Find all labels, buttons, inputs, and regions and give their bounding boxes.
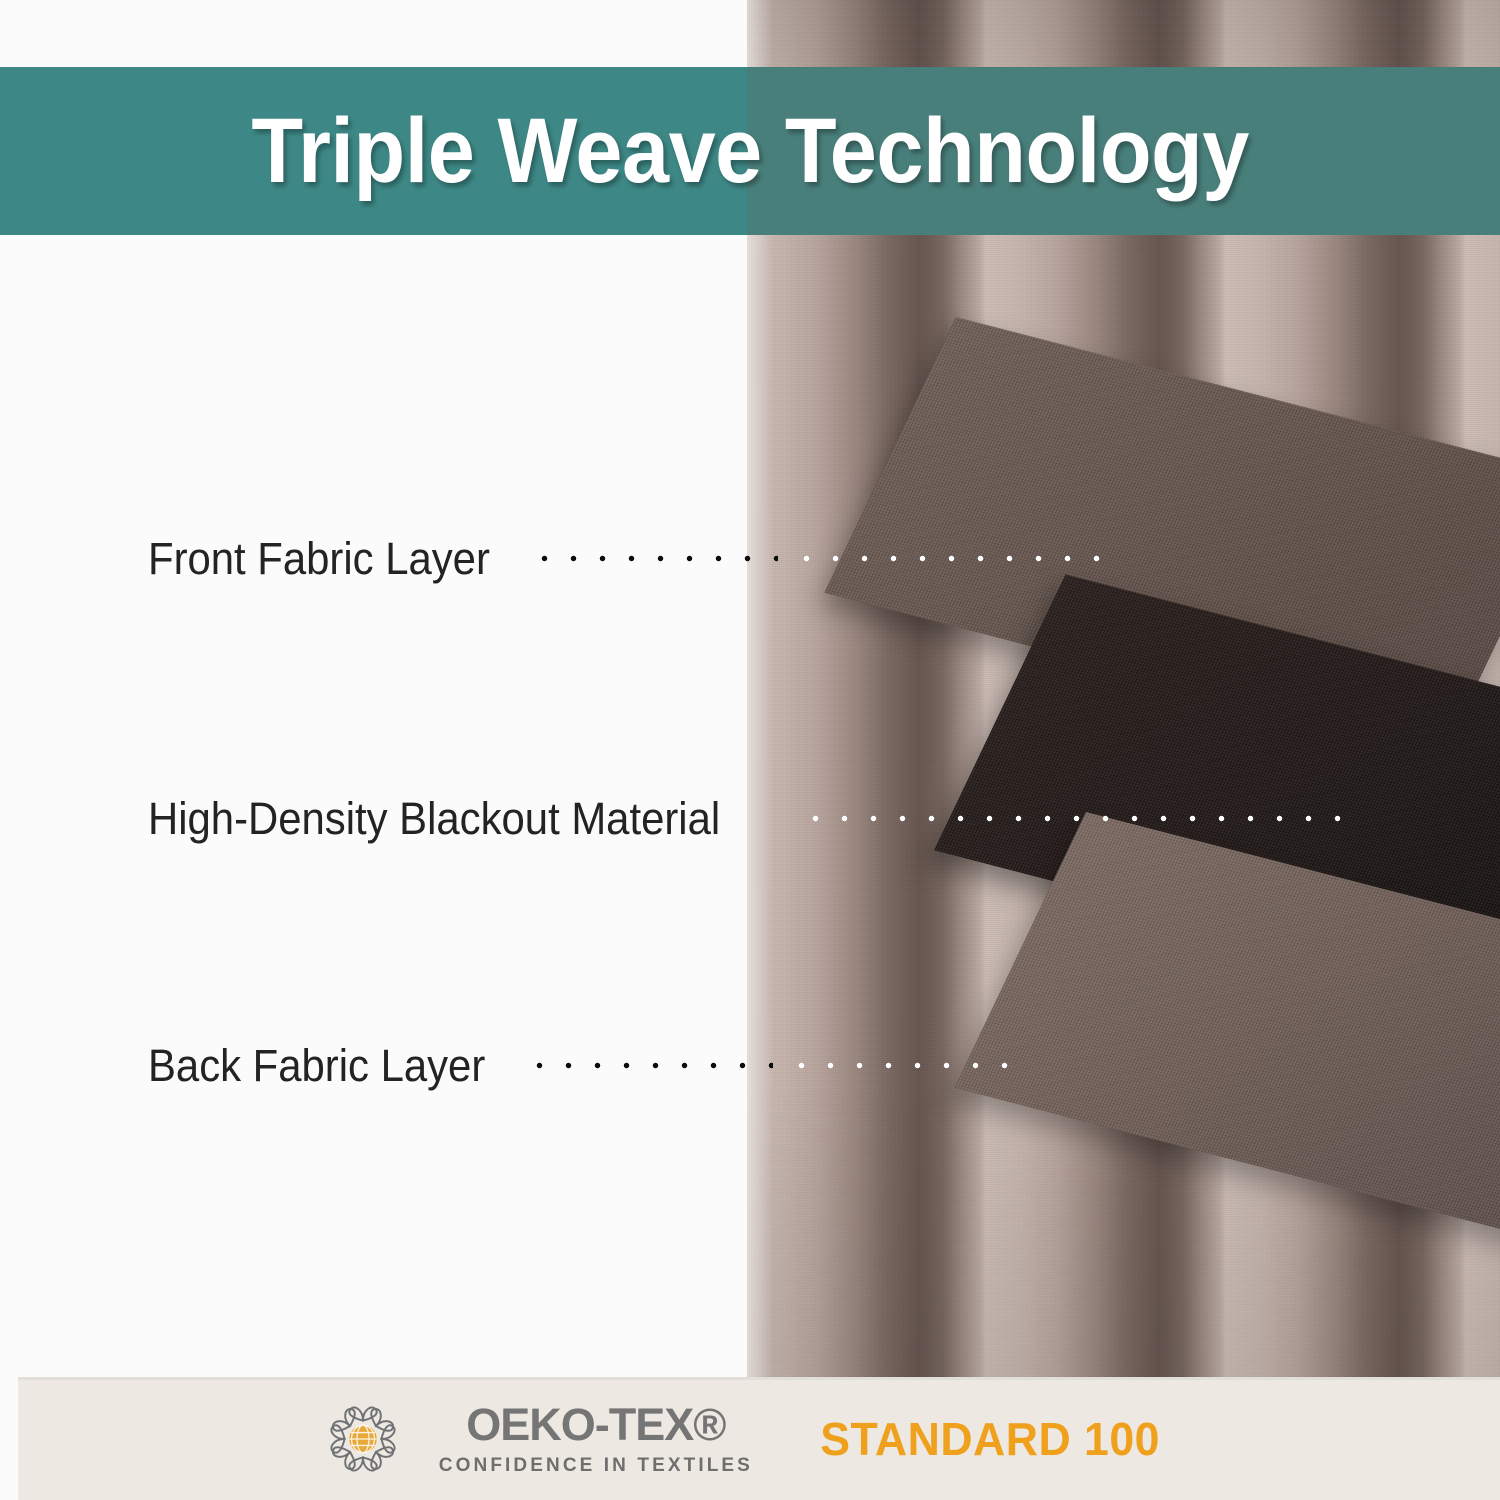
oeko-tex-tagline: CONFIDENCE IN TEXTILES bbox=[439, 1456, 753, 1475]
dotted-leader-line-icon bbox=[777, 813, 787, 824]
callout-label: Front Fabric Layer bbox=[148, 536, 490, 581]
standard-100-label: STANDARD 100 bbox=[820, 1416, 1160, 1462]
certification-footer: OEKO-TEX® CONFIDENCE IN TEXTILES STANDAR… bbox=[18, 1377, 1500, 1500]
oeko-tex-brand-text: OEKO-TEX® bbox=[466, 1402, 725, 1447]
callout-label: Back Fabric Layer bbox=[148, 1043, 485, 1088]
callout-label: High-Density Blackout Material bbox=[148, 796, 720, 841]
callout-front-fabric-layer: Front Fabric Layer bbox=[148, 528, 1104, 588]
callout-back-fabric-layer: Back Fabric Layer bbox=[148, 1035, 1019, 1095]
dotted-leader-line-icon bbox=[801, 813, 1363, 824]
oeko-tex-globe-flower-icon bbox=[317, 1393, 409, 1485]
callout-high-density-blackout-material: High-Density Blackout Material bbox=[148, 788, 1363, 848]
dotted-leader-line-icon bbox=[787, 1060, 1019, 1071]
footer-top-divider bbox=[18, 1377, 1500, 1380]
oeko-tex-wordmark: OEKO-TEX® CONFIDENCE IN TEXTILES bbox=[439, 1402, 753, 1475]
page-title: Triple Weave Technology bbox=[251, 105, 1249, 197]
dotted-leader-line-icon bbox=[792, 553, 1104, 564]
product-infographic: Triple Weave Technology Front Fabric Lay… bbox=[0, 0, 1500, 1500]
title-banner: Triple Weave Technology bbox=[0, 67, 1500, 235]
dotted-leader-line-icon bbox=[530, 553, 778, 564]
dotted-leader-line-icon bbox=[525, 1060, 773, 1071]
